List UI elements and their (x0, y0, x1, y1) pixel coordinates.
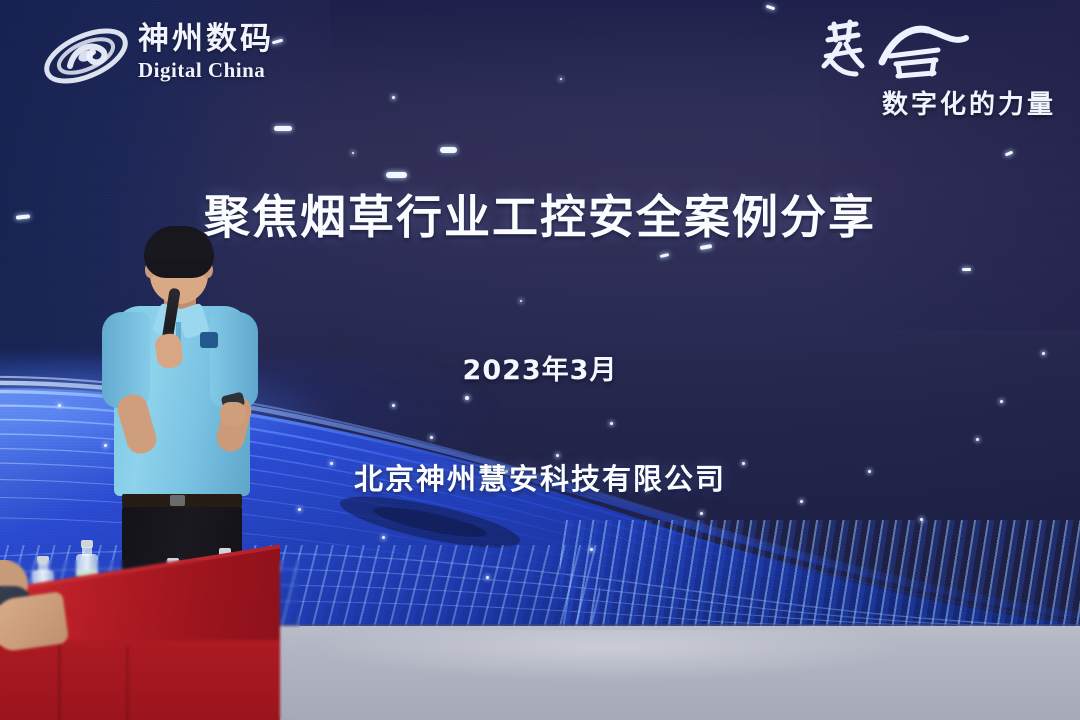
event-calligraphy (820, 16, 960, 76)
brand-name-en: Digital China (138, 58, 274, 83)
brand-name-cn: 神州数码 (138, 23, 274, 56)
presenter-hand-right (220, 402, 246, 426)
event-logo: 数字化的力量 (806, 16, 1056, 112)
foreground-depth-blur (0, 560, 300, 720)
presenter-chest-logo (200, 332, 218, 348)
spiral-galaxy-icon (40, 22, 132, 90)
event-tagline: 数字化的力量 (806, 84, 1056, 121)
presenter-hair-front (145, 232, 213, 260)
presenter-belt-buckle (170, 495, 185, 506)
presenter-sleeve-left (102, 312, 150, 408)
floor-sheen (260, 630, 960, 690)
screenshot-root: 神州数码 Digital China (0, 0, 1080, 720)
brand-logo: 神州数码 Digital China (40, 14, 340, 100)
brand-text-block: 神州数码 Digital China (138, 23, 274, 83)
